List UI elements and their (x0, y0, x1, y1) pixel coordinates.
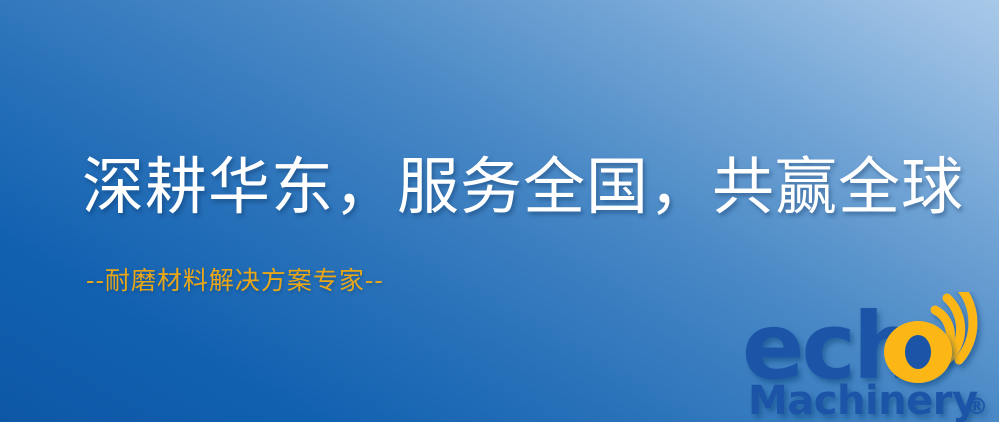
logo-o-letter (884, 321, 952, 383)
svg-text:®: ® (966, 395, 988, 420)
echo-machinery-logo: ech Machinery ® (742, 292, 999, 422)
svg-text:Machinery: Machinery (748, 378, 978, 422)
banner-headline: 深耕华东，服务全国，共赢全球 (82, 152, 964, 221)
logo-tagline: Machinery ® (748, 378, 988, 422)
banner-subheadline: --耐磨材料解决方案专家-- (86, 266, 384, 296)
promo-banner: 深耕华东，服务全国，共赢全球 --耐磨材料解决方案专家-- ech (0, 0, 999, 422)
